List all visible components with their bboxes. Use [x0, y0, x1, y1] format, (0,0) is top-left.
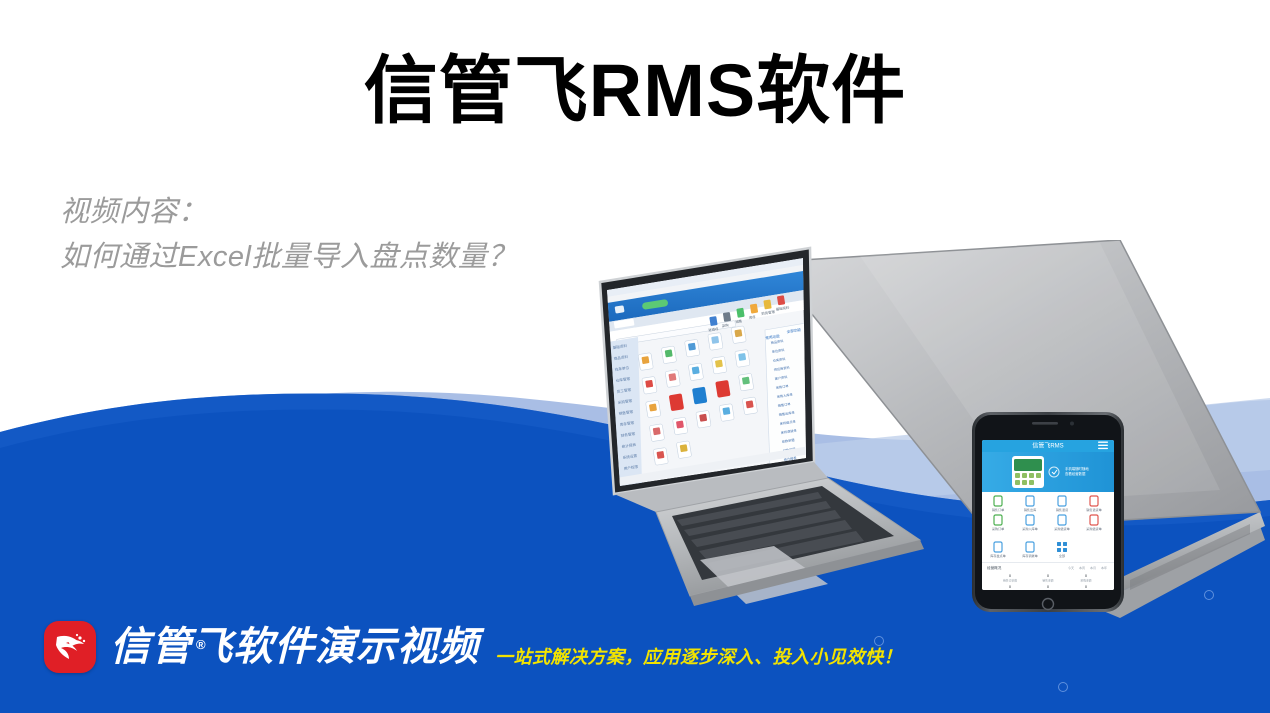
svg-text:销售退货单: 销售退货单: [1086, 507, 1101, 512]
svg-text:采购订单: 采购订单: [992, 526, 1004, 531]
svg-text:采购退货单: 采购退货单: [1054, 526, 1069, 531]
xinguanfei-logo-icon: [44, 621, 96, 673]
svg-text:采购退货单: 采购退货单: [1086, 526, 1101, 531]
svg-text:销售订单: 销售订单: [992, 507, 1004, 512]
laptop-screen-content: 进销存 采购 销售 库存 财务管理 基础资料 基础资料 商品资料 往来单位 仓库…: [607, 258, 810, 488]
brand-tagline: 一站式解决方案，应用逐步深入、投入小见效快！: [495, 643, 902, 673]
slide-canvas: 信管飞RMS软件 视频内容： 如何通过Excel批量导入盘点数量？: [0, 0, 1270, 713]
svg-text:本月: 本月: [1090, 565, 1096, 570]
subtitle-line-2: 如何通过Excel批量导入盘点数量？: [60, 235, 517, 280]
branding-bar: 信管飞软件演示视频 ® 一站式解决方案，应用逐步深入、投入小见效快！: [44, 621, 902, 673]
svg-text:本年: 本年: [1101, 565, 1107, 570]
svg-text:经营概况: 经营概况: [987, 565, 1002, 570]
brand-registered-mark: ®: [196, 623, 207, 667]
decor-dot: [1058, 682, 1068, 692]
subtitle-line-1: 视频内容：: [60, 190, 517, 235]
svg-text:库存盘点单: 库存盘点单: [990, 553, 1005, 558]
phone-screen-content: 9:41 信管飞RMS: [982, 430, 1114, 603]
smartphone: 9:41 信管飞RMS: [972, 412, 1124, 612]
svg-text:全部: 全部: [1059, 553, 1065, 558]
svg-text:销售订单数: 销售订单数: [1003, 579, 1017, 583]
svg-text:今天: 今天: [1068, 565, 1074, 570]
svg-text:查看经营数据: 查看经营数据: [1065, 471, 1086, 476]
svg-text:本周: 本周: [1079, 565, 1085, 570]
svg-text:手机端随时随地: 手机端随时随地: [1065, 466, 1089, 471]
svg-text:采购入库单: 采购入库单: [1022, 526, 1037, 531]
brand-name: 信管飞软件演示视频 ®: [110, 625, 479, 669]
svg-text:销售金额: 销售金额: [1042, 579, 1053, 583]
svg-text:销售出库: 销售出库: [1024, 507, 1036, 512]
device-artwork: 进销存 采购 销售 库存 财务管理 基础资料 基础资料 商品资料 往来单位 仓库…: [560, 240, 1270, 630]
page-title: 信管飞RMS软件: [0, 48, 1270, 134]
svg-text:信管飞RMS: 信管飞RMS: [1032, 442, 1063, 450]
hamburger-icon: [1098, 442, 1108, 450]
subtitle-block: 视频内容： 如何通过Excel批量导入盘点数量？: [60, 190, 517, 280]
svg-text:采购金额: 采购金额: [1080, 579, 1091, 583]
svg-text:库存调拨单: 库存调拨单: [1022, 553, 1037, 558]
svg-text:销售退货: 销售退货: [1056, 507, 1068, 512]
brand-name-label: 信管飞软件演示视频: [110, 625, 479, 669]
